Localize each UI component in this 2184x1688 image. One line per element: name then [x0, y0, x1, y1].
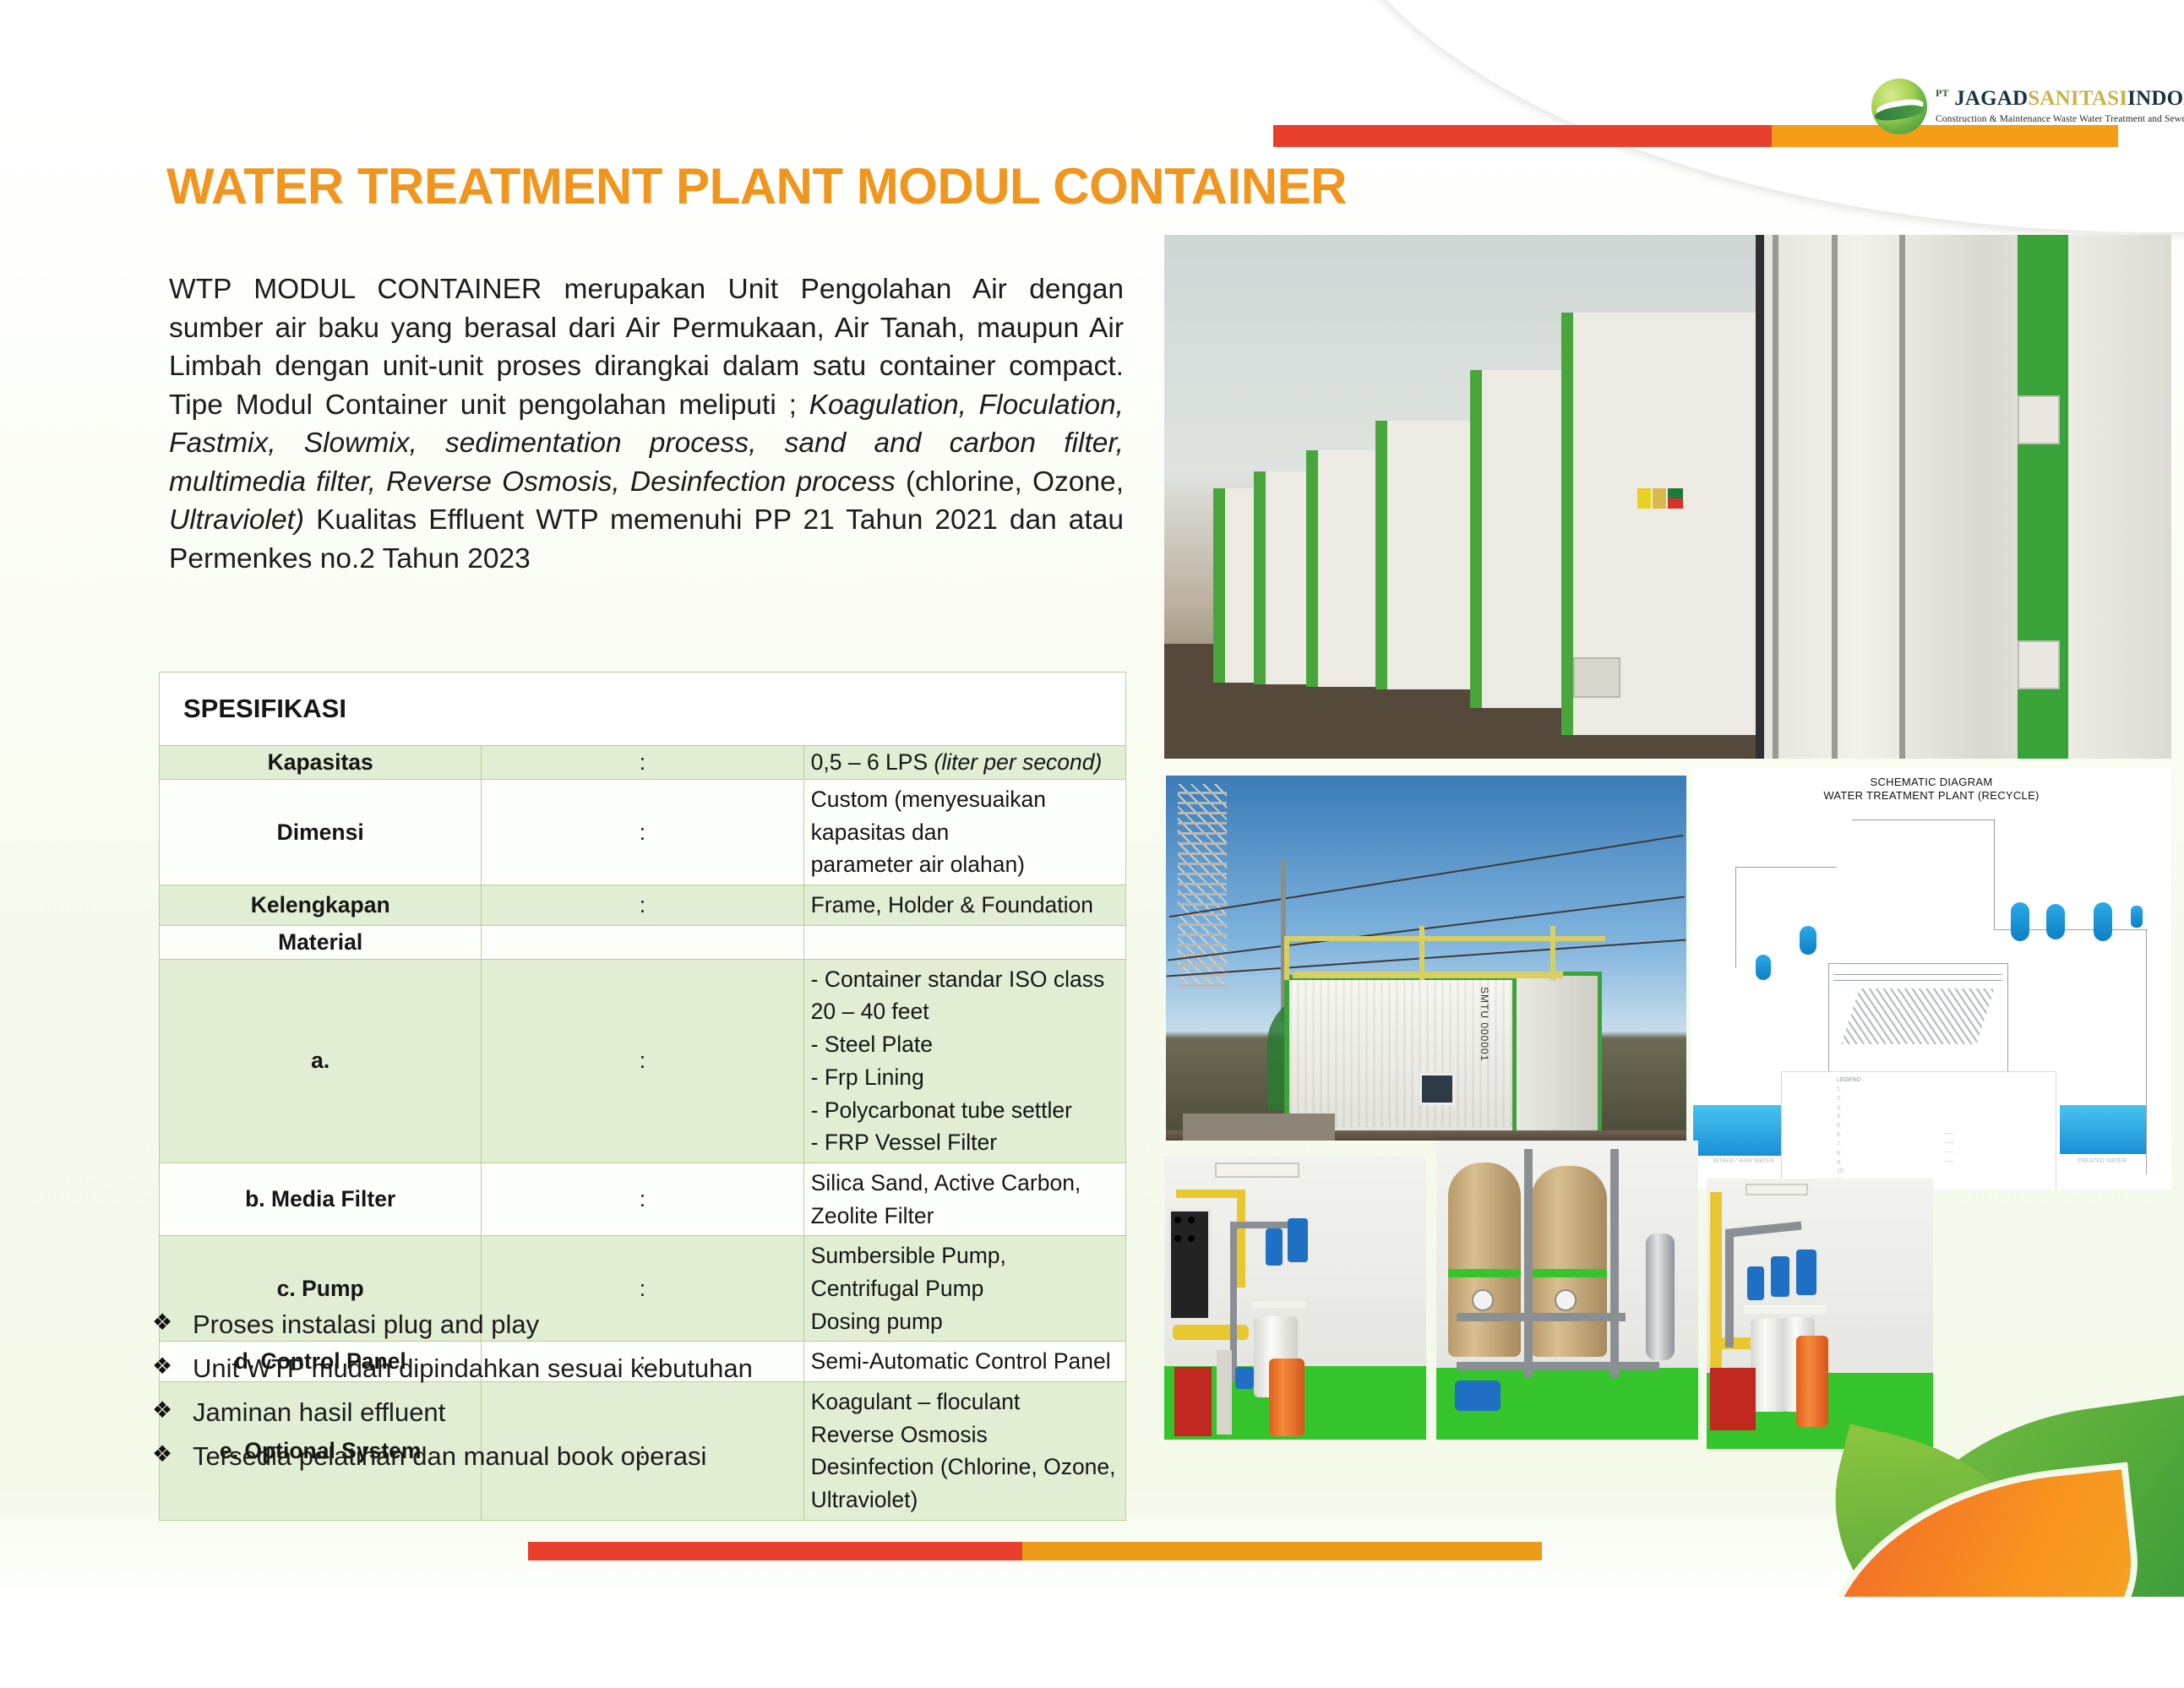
- yellow-pipe: [1176, 1190, 1244, 1198]
- diagram-title-line-1: SCHEMATIC DIAGRAM: [1691, 776, 2171, 789]
- diagram-title-line-2: WATER TREATMENT PLANT (RECYCLE): [1691, 789, 2171, 803]
- panel-switch: [1174, 1235, 1181, 1242]
- paragraph-part-plain-2: (chlorine, Ozone,: [896, 466, 1124, 498]
- table-row: Dimensi:Custom (menyesuaikan kapasitas d…: [160, 780, 1126, 885]
- photo-interior-2: [1436, 1141, 1698, 1440]
- pump-motor: [1747, 1266, 1764, 1300]
- diagram-vessel: [2046, 904, 2065, 939]
- photo-diagram: SCHEMATIC DIAGRAM WATER TREATMENT PLANT …: [1691, 767, 2171, 1190]
- spec-row-value: Custom (menyesuaikan kapasitas danparame…: [803, 780, 1125, 885]
- spec-row-colon: :: [482, 959, 803, 1163]
- spec-value-line: - Container standar ISO class 20 – 40 fe…: [811, 963, 1119, 1028]
- diagram-line-legend: ── ── ── ──: [1945, 1130, 1963, 1167]
- grey-pipe: [1725, 1229, 1734, 1348]
- spec-row-label: Material: [160, 925, 482, 959]
- spec-value-line: Desinfection (Chlorine, Ozone, Ultraviol…: [811, 1451, 1119, 1516]
- intro-paragraph: WTP MODUL CONTAINER merupakan Unit Pengo…: [169, 270, 1124, 578]
- spec-value-lines: Silica Sand, Active Carbon, Zeolite Filt…: [811, 1167, 1119, 1232]
- table-row: Material: [160, 925, 1126, 959]
- logo-tagline: Construction & Maintenance Waste Water T…: [1936, 115, 2184, 125]
- yellow-manifold: [1173, 1325, 1249, 1340]
- grey-pipe-header: [1457, 1362, 1659, 1370]
- diagram-pool-left: [1693, 1105, 1786, 1156]
- spec-value-line: Frame, Holder & Foundation: [811, 889, 1119, 922]
- container-door-seam: [1756, 235, 1764, 759]
- roof-railing: [1284, 936, 1605, 941]
- diagram-caption-left: INTAKE / RAW WATER: [1703, 1157, 1784, 1167]
- orange-drum: [1796, 1336, 1828, 1427]
- photo-interior-3: [1707, 1179, 1933, 1449]
- diagram-tube-settler: [1841, 988, 1994, 1044]
- spec-value-line: Silica Sand, Active Carbon, Zeolite Filt…: [811, 1167, 1119, 1232]
- paragraph-part-plain-3: Kualitas Effluent WTP memenuhi PP 21 Tah…: [169, 504, 1124, 574]
- spec-value-line: parameter air olahan): [811, 848, 1119, 881]
- list-item: ❖Jaminan hasil effluent: [152, 1397, 753, 1428]
- paragraph-part-italic-2: Ultraviolet): [169, 504, 304, 536]
- panel-switch: [1188, 1217, 1195, 1223]
- logo-globe-icon: [1871, 79, 1927, 134]
- specification-header-row: SPESIFIKASI: [160, 672, 1126, 746]
- spec-value-line: Koagulant – floculant: [811, 1386, 1119, 1418]
- feature-bullet-list: ❖Proses instalasi plug and play❖Unit WTP…: [152, 1310, 753, 1485]
- diagram-line: [1828, 963, 2007, 964]
- diagram-line: [1735, 867, 1736, 968]
- diagram-line: [1852, 819, 1996, 820]
- container-sticker-tan: [1653, 488, 1666, 509]
- spec-row-value: 0,5 – 6 LPS (liter per second): [803, 746, 1125, 780]
- container-lock-rod: [1773, 235, 1778, 759]
- pump-motor: [1235, 1367, 1254, 1389]
- diagram-vessel: [2094, 902, 2112, 941]
- roof-pipe: [1293, 972, 1563, 978]
- stainless-filter: [1646, 1233, 1675, 1360]
- table-row: b. Media Filter:Silica Sand, Active Carb…: [160, 1163, 1126, 1235]
- diamond-bullet-icon: ❖: [152, 1441, 193, 1467]
- spec-value-line: - Steel Plate: [811, 1028, 1119, 1061]
- logo-name-sanitasi: SANITASI: [2028, 87, 2127, 110]
- specification-header-cell: SPESIFIKASI: [160, 672, 1126, 746]
- spec-value-lines: Koagulant – floculantReverse OsmosisDesi…: [811, 1386, 1119, 1516]
- diagram-canvas: SCHEMATIC DIAGRAM WATER TREATMENT PLANT …: [1691, 767, 2171, 1190]
- spec-value-line: - Frp Lining: [811, 1061, 1119, 1094]
- diagram-pool-right: [2060, 1105, 2146, 1154]
- diagram-caption-right: TREATED WATER: [2058, 1157, 2146, 1167]
- spec-row-colon: :: [482, 780, 803, 885]
- spec-row-colon: :: [482, 1163, 803, 1235]
- yellow-pipe: [1237, 1190, 1245, 1288]
- list-item-label: Jaminan hasil effluent: [193, 1397, 445, 1428]
- container-sticker-yellow: [1637, 488, 1651, 509]
- list-item-label: Proses instalasi plug and play: [193, 1310, 539, 1340]
- spec-value-line: Sumbersible Pump, Centrifugal Pump: [811, 1239, 1119, 1304]
- panel-switch: [1174, 1217, 1181, 1223]
- pump-motor: [1771, 1256, 1789, 1297]
- list-item-label: Unit WTP mudah dipindahkan sesuai kebutu…: [193, 1353, 753, 1384]
- grey-pipe: [1230, 1222, 1289, 1228]
- spec-row-value: Sumbersible Pump, Centrifugal PumpDosing…: [803, 1236, 1125, 1342]
- list-item: ❖Tersedia pelatihan dan manual book oper…: [152, 1441, 753, 1472]
- container-side-panel: [2068, 235, 2171, 759]
- list-item: ❖Proses instalasi plug and play: [152, 1310, 753, 1340]
- frp-vessel: [1531, 1166, 1607, 1357]
- equipment-shelf: [1252, 1301, 1306, 1308]
- spec-value-italic: (liter per second): [934, 749, 1103, 775]
- company-logo: PT JAGADSANITASIINDONESIA Construction &…: [1871, 66, 2167, 147]
- diagram-vessel: [2011, 902, 2029, 941]
- pump-motor: [1796, 1250, 1816, 1295]
- footer-accent-bar: [528, 1542, 1542, 1560]
- container-hinge: [2018, 640, 2060, 689]
- logo-company-name: PT JAGADSANITASIINDONESIA: [1936, 88, 2184, 109]
- diamond-bullet-icon: ❖: [152, 1353, 193, 1380]
- header-bar-red-segment: [1273, 125, 1772, 147]
- ceiling-lamp: [1746, 1184, 1808, 1195]
- diagram-line: [2146, 929, 2147, 1174]
- spec-row-colon: [482, 925, 803, 959]
- spec-row-value: Semi-Automatic Control Panel: [803, 1342, 1125, 1382]
- yellow-pipe: [1710, 1192, 1722, 1386]
- roof-railing-post: [1284, 936, 1289, 980]
- spec-value-lines: Sumbersible Pump, Centrifugal PumpDosing…: [811, 1239, 1119, 1337]
- vessel-green-band: [1531, 1269, 1607, 1277]
- spec-value-line: Reverse Osmosis: [811, 1418, 1119, 1451]
- diagram-line: [1833, 974, 2002, 975]
- white-pole: [1217, 1350, 1232, 1435]
- spec-value-line: Custom (menyesuaikan kapasitas dan: [811, 783, 1119, 848]
- bottom-white-margin: [0, 1597, 2184, 1688]
- container-lock-rod: [1832, 235, 1838, 759]
- site-container-door: [1512, 972, 1602, 1141]
- grey-pipe: [1610, 1149, 1619, 1377]
- panel-switch: [1188, 1235, 1195, 1242]
- slide-canvas: PT JAGADSANITASIINDONESIA Construction &…: [0, 0, 2184, 1688]
- diagram-title: SCHEMATIC DIAGRAM WATER TREATMENT PLANT …: [1691, 776, 2171, 803]
- ceiling-lamp: [1215, 1163, 1299, 1178]
- footer-bar-red-segment: [528, 1542, 1022, 1560]
- container-id-label: SMTU 000001: [1472, 987, 1490, 1061]
- spec-row-label: a.: [160, 959, 482, 1163]
- grey-pipe-header: [1457, 1313, 1626, 1321]
- pressure-gauge: [1472, 1289, 1494, 1311]
- spec-value-lines: Semi-Automatic Control Panel: [811, 1345, 1119, 1378]
- vessel-green-band: [1448, 1269, 1521, 1277]
- list-item: ❖Unit WTP mudah dipindahkan sesuai kebut…: [152, 1353, 753, 1384]
- logo-name-jagad: JAGAD: [1954, 87, 2028, 110]
- diagram-vessel: [2131, 906, 2143, 928]
- equipment-shelf: [1744, 1305, 1827, 1314]
- orange-drum: [1269, 1359, 1304, 1436]
- container-hinge: [2018, 395, 2060, 444]
- spec-value-lines: Custom (menyesuaikan kapasitas danparame…: [811, 783, 1119, 881]
- diagram-legend-title: LEGEND :: [1837, 1076, 1972, 1086]
- photo-interior-1: [1164, 1156, 1426, 1440]
- container-window: [1419, 1073, 1455, 1105]
- red-frame: [1710, 1368, 1756, 1430]
- spec-row-label: b. Media Filter: [160, 1163, 482, 1235]
- spec-row-value: Silica Sand, Active Carbon, Zeolite Filt…: [803, 1163, 1125, 1235]
- logo-pt-prefix: PT: [1936, 87, 1949, 99]
- spec-row-colon: :: [482, 746, 803, 780]
- container-lock-rod: [1899, 235, 1905, 759]
- spec-row-label: Kapasitas: [160, 746, 482, 780]
- pump-motor: [1455, 1380, 1500, 1411]
- spec-value-line: - FRP Vessel Filter: [811, 1126, 1119, 1159]
- pump-motor: [1266, 1228, 1283, 1266]
- spec-row-value: - Container standar ISO class 20 – 40 fe…: [803, 959, 1125, 1163]
- spec-row-label: Kelengkapan: [160, 885, 482, 926]
- spec-row-colon: :: [482, 885, 803, 926]
- spec-value-line: Dosing pump: [811, 1305, 1119, 1338]
- spec-value-line: Semi-Automatic Control Panel: [811, 1345, 1119, 1378]
- grey-pipe: [1524, 1149, 1533, 1377]
- pressure-gauge: [1555, 1289, 1577, 1311]
- table-row: a.:- Container standar ISO class 20 – 40…: [160, 959, 1126, 1163]
- spec-row-value: Koagulant – floculantReverse OsmosisDesi…: [803, 1382, 1125, 1521]
- diamond-bullet-icon: ❖: [152, 1310, 193, 1336]
- spec-row-value: Frame, Holder & Foundation: [803, 885, 1125, 926]
- container-vent: [1573, 657, 1620, 698]
- spec-value-lines: - Container standar ISO class 20 – 40 fe…: [811, 963, 1119, 1159]
- spec-value-lines: Frame, Holder & Foundation: [811, 889, 1119, 922]
- page-title: WATER TREATMENT PLANT MODUL CONTAINER: [166, 157, 1347, 215]
- diamond-bullet-icon: ❖: [152, 1397, 193, 1424]
- spec-row-value: [803, 925, 1125, 959]
- spec-row-label: Dimensi: [160, 780, 482, 885]
- diagram-vessel: [1756, 955, 1771, 980]
- container-sticker-red-green: [1668, 488, 1683, 509]
- logo-text-block: PT JAGADSANITASIINDONESIA Construction &…: [1936, 88, 2184, 125]
- table-row: Kelengkapan:Frame, Holder & Foundation: [160, 885, 1126, 926]
- pump-motor: [1288, 1218, 1308, 1262]
- diagram-line: [1994, 819, 1995, 929]
- control-panel-box: [1168, 1208, 1212, 1321]
- concrete-basin: [1183, 1114, 1335, 1141]
- list-item-label: Tersedia pelatihan dan manual book opera…: [193, 1441, 706, 1472]
- red-frame: [1174, 1367, 1212, 1436]
- diagram-line: [1833, 980, 2002, 981]
- spec-value-line: - Polycarbonat tube settler: [811, 1094, 1119, 1127]
- logo-name-indonesia: INDONESIA: [2127, 87, 2184, 110]
- table-row: Kapasitas:0,5 – 6 LPS (liter per second): [160, 746, 1126, 780]
- diagram-line: [1735, 867, 1837, 868]
- photo-containers: [1164, 235, 2171, 759]
- spec-value-plain: 0,5 – 6 LPS: [811, 749, 934, 775]
- footer-bar-orange-segment: [1022, 1542, 1542, 1560]
- frp-vessel: [1448, 1163, 1521, 1357]
- diagram-vessel: [1800, 926, 1816, 955]
- photo-site: SMTU 000001: [1166, 776, 1686, 1141]
